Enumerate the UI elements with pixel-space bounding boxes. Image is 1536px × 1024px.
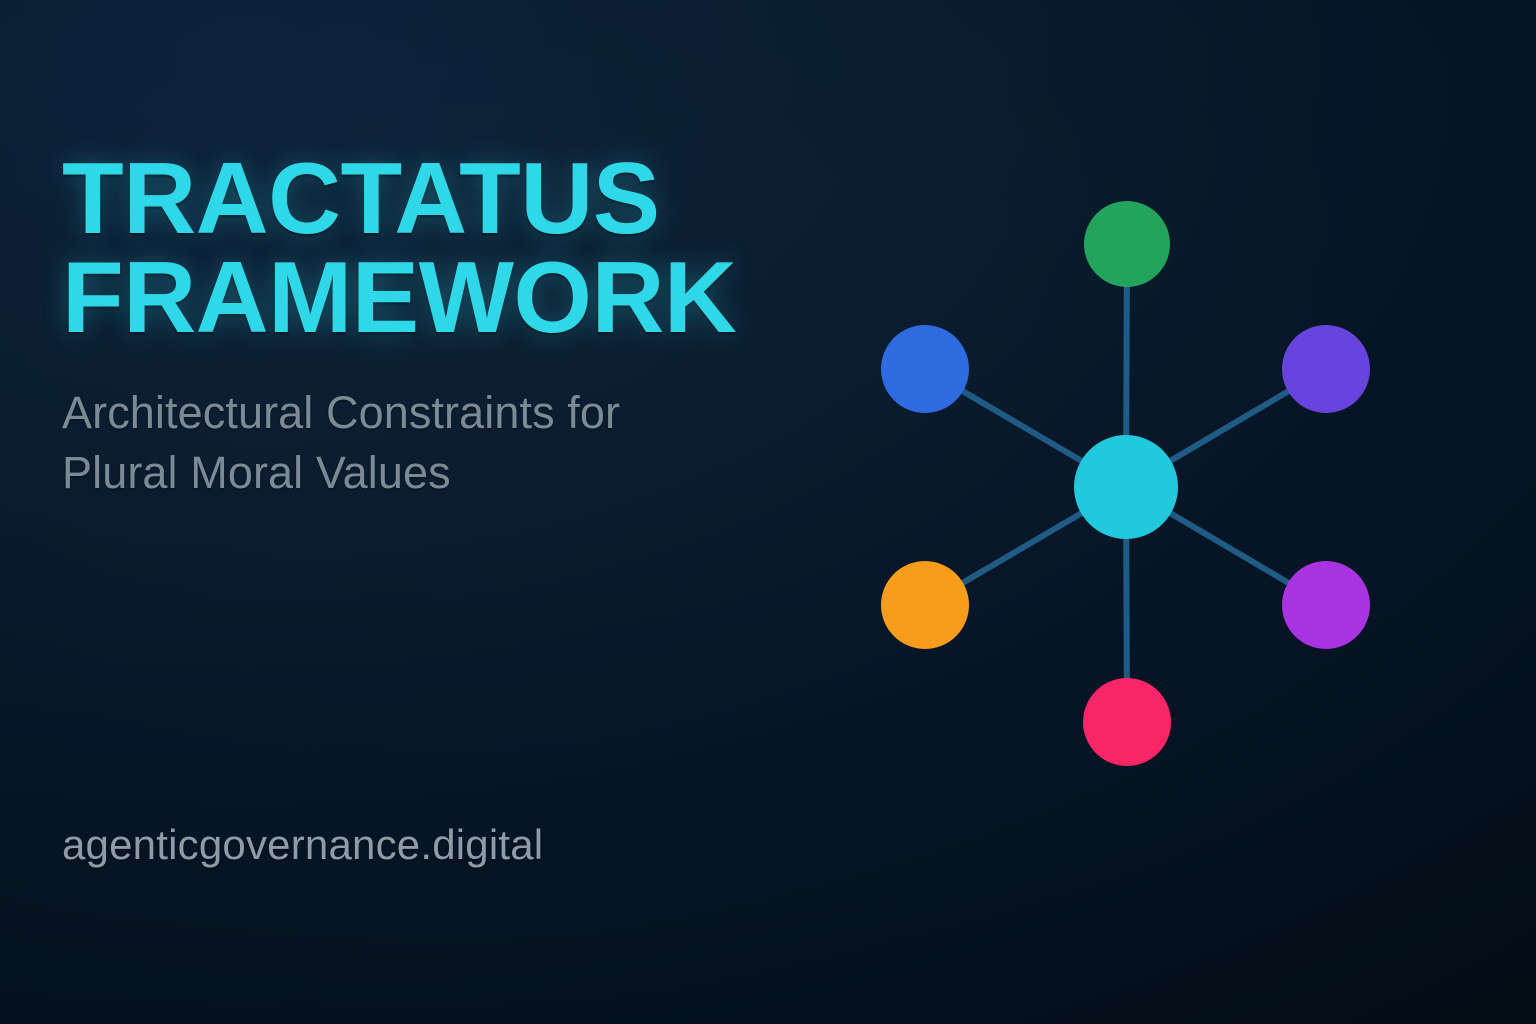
center-node[interactable]	[1074, 435, 1178, 539]
node-network-svg	[840, 160, 1460, 800]
node-upper-left-blue[interactable]	[881, 325, 969, 413]
site-url[interactable]: agenticgovernance.digital	[62, 821, 543, 869]
page-subtitle-line-2: Plural Moral Values	[62, 443, 822, 503]
node-lower-right-purple[interactable]	[1282, 561, 1370, 649]
node-top-green[interactable]	[1084, 201, 1170, 287]
promo-card: TRACTATUS FRAMEWORK Architectural Constr…	[0, 0, 1536, 1024]
node-group	[881, 201, 1370, 766]
edge-node-bottom-pink	[1126, 533, 1127, 684]
edge-node-upper-right-indigo	[1166, 388, 1294, 463]
edge-node-top-green	[1126, 281, 1127, 441]
page-subtitle: Architectural Constraints for Plural Mor…	[62, 383, 822, 503]
page-title: TRACTATUS FRAMEWORK	[62, 150, 822, 349]
page-title-line-1: TRACTATUS	[62, 150, 822, 249]
node-network-diagram	[840, 160, 1460, 800]
edge-node-lower-left-orange	[958, 510, 1087, 585]
page-title-line-2: FRAMEWORK	[62, 249, 822, 348]
node-lower-left-orange[interactable]	[881, 561, 969, 649]
node-bottom-pink[interactable]	[1083, 678, 1171, 766]
page-subtitle-line-1: Architectural Constraints for	[62, 383, 822, 443]
edge-node-upper-left-blue	[958, 388, 1087, 463]
text-block: TRACTATUS FRAMEWORK Architectural Constr…	[62, 150, 822, 503]
edge-node-lower-right-purple	[1166, 510, 1294, 585]
node-upper-right-indigo[interactable]	[1282, 325, 1370, 413]
